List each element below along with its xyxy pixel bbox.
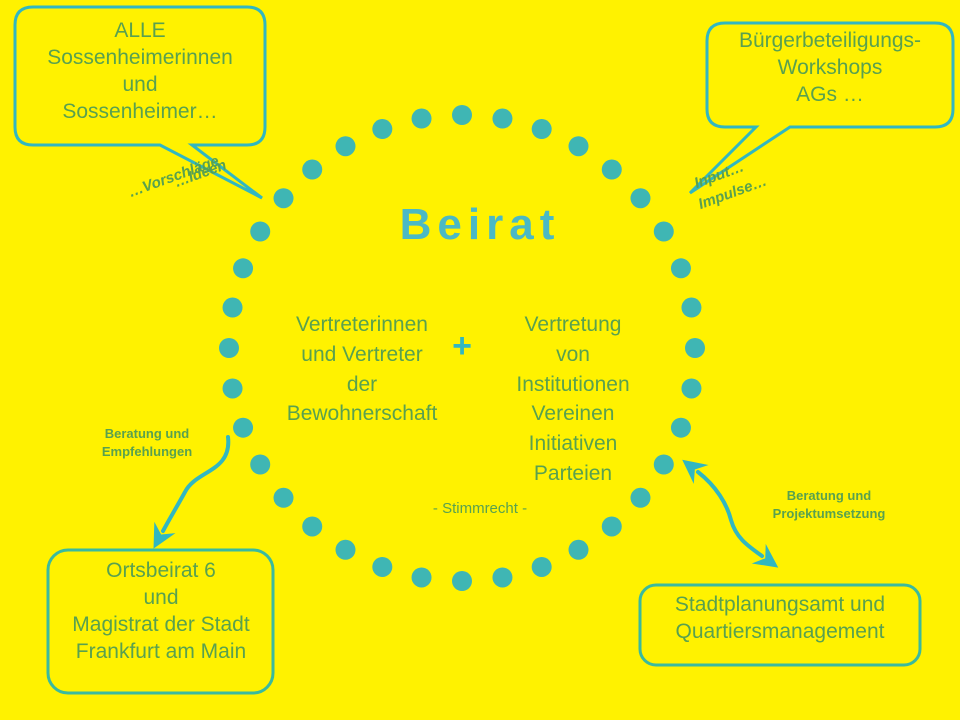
arrow-label-beratung-empfehlungen: Beratung und Empfehlungen — [72, 425, 222, 460]
ring-dot — [223, 378, 243, 398]
ring-dot — [219, 338, 239, 358]
ring-dot — [223, 298, 243, 318]
ring-dot — [274, 488, 294, 508]
ring-dot — [336, 540, 356, 560]
plus-icon: + — [440, 327, 484, 366]
ring-dot — [671, 418, 691, 438]
ring-dot — [250, 455, 270, 475]
ring-dot — [250, 222, 270, 242]
ring-dot — [681, 378, 701, 398]
speech-bubble-top-right-text: Bürgerbeteiligungs- Workshops AGs … — [710, 28, 950, 109]
arrow-label-beratung-projektumsetzung: Beratung und Projektumsetzung — [744, 487, 914, 522]
ring-dot — [602, 516, 622, 536]
ring-dot — [452, 571, 472, 591]
ring-dot — [412, 109, 432, 129]
ring-dot — [602, 160, 622, 180]
ring-dot — [681, 298, 701, 318]
diagram-canvas: ALLE Sossenheimerinnen und Sossenheimer…… — [0, 0, 960, 720]
center-column-left: Vertreterinnen und Vertreter der Bewohne… — [262, 310, 462, 429]
ring-dot — [372, 557, 392, 577]
speech-bubble-top-left-text: ALLE Sossenheimerinnen und Sossenheimer… — [18, 18, 262, 126]
ring-dot — [569, 136, 589, 156]
ring-dot — [302, 516, 322, 536]
box-bottom-left-text: Ortsbeirat 6 und Magistrat der Stadt Fra… — [52, 558, 270, 666]
ring-dot — [274, 188, 294, 208]
center-column-right: Vertretung von Institutionen Vereinen In… — [482, 310, 664, 489]
ring-dot — [671, 258, 691, 278]
ring-dot — [302, 160, 322, 180]
ring-dot — [492, 567, 512, 587]
ring-dot — [452, 105, 472, 125]
ring-dot — [569, 540, 589, 560]
ring-dot — [336, 136, 356, 156]
ring-dot — [372, 119, 392, 139]
ring-dot — [630, 188, 650, 208]
box-bottom-right-text: Stadtplanungsamt und Quartiersmanagement — [644, 592, 916, 646]
ring-dot — [685, 338, 705, 358]
ring-dot — [233, 418, 253, 438]
ring-dot — [532, 119, 552, 139]
ring-dot — [630, 488, 650, 508]
page-title: Beirat — [330, 200, 630, 250]
center-footnote: - Stimmrecht - — [362, 500, 598, 517]
ring-dot — [532, 557, 552, 577]
ring-dot — [233, 258, 253, 278]
ring-dot — [654, 222, 674, 242]
ring-dot — [412, 567, 432, 587]
ring-dot — [492, 109, 512, 129]
